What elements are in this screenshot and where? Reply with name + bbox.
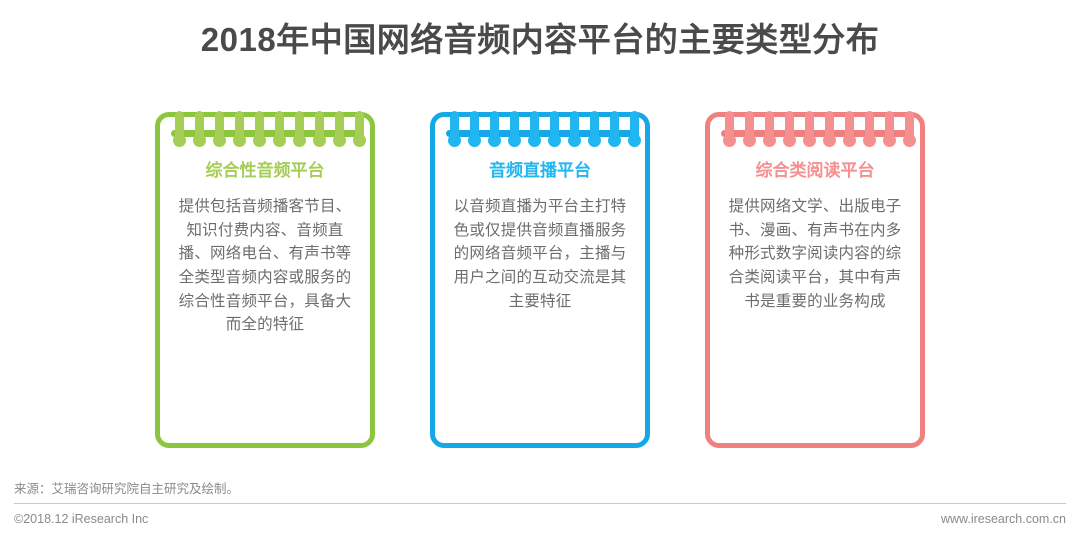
spiral-pin-icon bbox=[195, 111, 204, 145]
page-title: 2018年中国网络音频内容平台的主要类型分布 bbox=[201, 23, 879, 56]
spiral-pin-icon bbox=[275, 111, 284, 145]
platform-card-description: 提供包括音频播客节目、知识付费内容、音频直播、网络电台、有声书等全类型音频内容或… bbox=[174, 195, 356, 336]
platform-type-card-list: 综合性音频平台 提供包括音频播客节目、知识付费内容、音频直播、网络电台、有声书等… bbox=[155, 112, 925, 452]
footer-divider bbox=[14, 503, 1066, 504]
page-header: 2018年中国网络音频内容平台的主要类型分布 bbox=[0, 0, 1080, 78]
spiral-pin-icon bbox=[355, 111, 364, 145]
spiral-pin-icon bbox=[215, 111, 224, 145]
spiral-bar bbox=[171, 130, 359, 137]
platform-card-comprehensive-audio: 综合性音频平台 提供包括音频播客节目、知识付费内容、音频直播、网络电台、有声书等… bbox=[155, 112, 375, 448]
platform-card-title: 综合类阅读平台 bbox=[724, 161, 906, 181]
spiral-pin-icon bbox=[510, 111, 519, 145]
spiral-pin-icon bbox=[470, 111, 479, 145]
platform-card-description: 以音频直播为平台主打特色或仅提供音频直播服务的网络音频平台，主播与用户之间的互动… bbox=[449, 195, 631, 313]
spiral-binding-icon bbox=[155, 117, 375, 161]
spiral-pin-icon bbox=[905, 111, 914, 145]
spiral-bar bbox=[446, 130, 634, 137]
spiral-pin-icon bbox=[745, 111, 754, 145]
website-url[interactable]: www.iresearch.com.cn bbox=[941, 512, 1066, 526]
platform-card-description: 提供网络文学、出版电子书、漫画、有声书在内多种形式数字阅读内容的综合类阅读平台，… bbox=[724, 195, 906, 313]
source-note: 来源：艾瑞咨询研究院自主研究及绘制。 bbox=[14, 478, 239, 497]
spiral-pin-icon bbox=[315, 111, 324, 145]
copyright-text: ©2018.12 iResearch Inc bbox=[14, 512, 148, 526]
spiral-pin-icon bbox=[590, 111, 599, 145]
spiral-pin-icon bbox=[805, 111, 814, 145]
spiral-pin-icon bbox=[885, 111, 894, 145]
spiral-pin-icon bbox=[530, 111, 539, 145]
spiral-pin-icon bbox=[255, 111, 264, 145]
spiral-pin-icon bbox=[450, 111, 459, 145]
spiral-bar bbox=[721, 130, 909, 137]
spiral-pin-icon bbox=[725, 111, 734, 145]
spiral-pin-icon bbox=[490, 111, 499, 145]
spiral-pin-icon bbox=[175, 111, 184, 145]
platform-card-comprehensive-reading: 综合类阅读平台 提供网络文学、出版电子书、漫画、有声书在内多种形式数字阅读内容的… bbox=[705, 112, 925, 448]
spiral-binding-icon bbox=[430, 117, 650, 161]
spiral-pin-icon bbox=[630, 111, 639, 145]
platform-card-title: 音频直播平台 bbox=[449, 161, 631, 181]
spiral-pin-icon bbox=[845, 111, 854, 145]
spiral-pin-icon bbox=[550, 111, 559, 145]
platform-card-title: 综合性音频平台 bbox=[174, 161, 356, 181]
platform-card-audio-live: 音频直播平台 以音频直播为平台主打特色或仅提供音频直播服务的网络音频平台，主播与… bbox=[430, 112, 650, 448]
spiral-pin-icon bbox=[785, 111, 794, 145]
spiral-binding-icon bbox=[705, 117, 925, 161]
spiral-pin-icon bbox=[295, 111, 304, 145]
spiral-pin-icon bbox=[335, 111, 344, 145]
spiral-pin-icon bbox=[865, 111, 874, 145]
spiral-pin-icon bbox=[235, 111, 244, 145]
spiral-pin-icon bbox=[825, 111, 834, 145]
spiral-pin-icon bbox=[610, 111, 619, 145]
spiral-pin-icon bbox=[570, 111, 579, 145]
spiral-pin-icon bbox=[765, 111, 774, 145]
